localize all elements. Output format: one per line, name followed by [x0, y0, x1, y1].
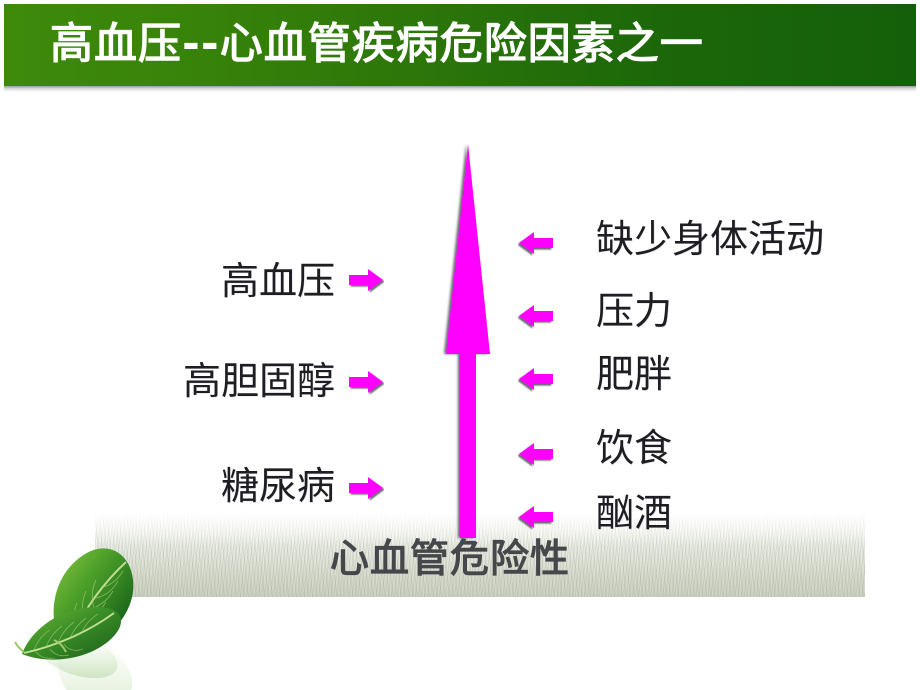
arrow-left-icon	[518, 230, 554, 256]
risk-label-diabetes: 糖尿病	[221, 467, 335, 505]
risk-label-physical-inactivity: 缺少身体活动	[596, 220, 824, 258]
arrow-right-icon	[348, 267, 384, 293]
risk-label-diet: 饮食	[596, 429, 672, 467]
page-title: 高血压--心血管疾病危险因素之一	[50, 24, 704, 67]
up-arrow-icon	[418, 142, 518, 542]
risk-label-obesity: 肥胖	[596, 355, 672, 393]
diagram-caption: 心血管危险性	[330, 540, 570, 579]
risk-label-stress: 压力	[596, 292, 672, 330]
risk-label-high-cholesterol: 高胆固醇	[183, 362, 335, 400]
arrow-right-icon	[348, 475, 384, 501]
slide-canvas: 高血压--心血管疾病危险因素之一 高血压 高胆固醇 糖尿病	[0, 0, 920, 690]
arrow-left-icon	[518, 303, 554, 329]
risk-factor-diagram: 高血压 高胆固醇 糖尿病	[0, 92, 920, 690]
risk-label-alcohol-abuse: 酗酒	[596, 494, 672, 532]
arrow-left-icon	[518, 441, 554, 467]
risk-label-hypertension: 高血压	[221, 262, 335, 300]
arrow-left-icon	[518, 504, 554, 530]
arrow-right-icon	[348, 369, 384, 395]
arrow-left-icon	[518, 366, 554, 392]
slide-title-bar: 高血压--心血管疾病危险因素之一	[4, 4, 916, 86]
green-leaves-icon	[6, 500, 188, 690]
